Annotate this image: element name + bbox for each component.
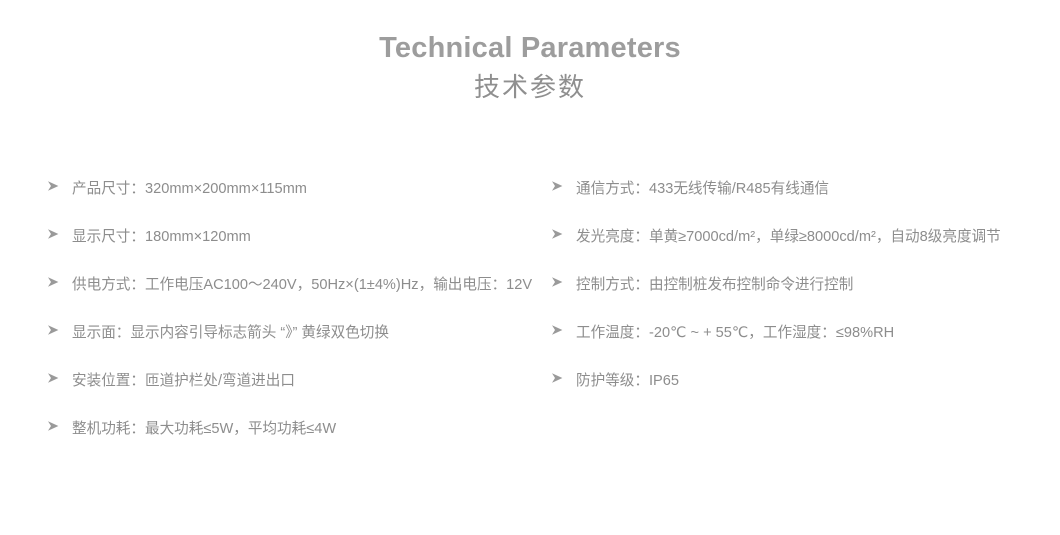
spec-columns: 产品尺寸：320mm×200mm×115mm 显示尺寸：180mm×120mm … [0,178,1060,466]
arrowhead-bullet-icon [46,178,72,193]
spec-item-control-mode: 控制方式：由控制桩发布控制命令进行控制 [550,274,1050,297]
technical-parameters-page: Technical Parameters 技术参数 产品尺寸：320mm×200… [0,0,1060,535]
spec-item-install-position: 安装位置：匝道护栏处/弯道进出口 [46,370,537,393]
spec-item-communication: 通信方式：433无线传输/R485有线通信 [550,178,1050,201]
spec-column-right: 通信方式：433无线传输/R485有线通信 发光亮度：单黄≥7000cd/m²，… [545,178,1060,466]
spec-item-power-consumption: 整机功耗：最大功耗≤5W，平均功耗≤4W [46,418,537,441]
arrowhead-bullet-icon [46,418,72,433]
spec-text: 整机功耗：最大功耗≤5W，平均功耗≤4W [72,418,537,441]
page-heading: Technical Parameters 技术参数 [0,0,1060,106]
spec-item-display-size: 显示尺寸：180mm×120mm [46,226,537,249]
arrowhead-bullet-icon [46,370,72,385]
spec-text: 工作温度：-20℃ ~ + 55℃，工作湿度：≤98%RH [576,322,1050,345]
page-title-chinese: 技术参数 [0,68,1060,106]
spec-text: 通信方式：433无线传输/R485有线通信 [576,178,1050,201]
spec-item-protection-rating: 防护等级：IP65 [550,370,1050,393]
arrowhead-bullet-icon [550,274,576,289]
arrowhead-bullet-icon [550,370,576,385]
arrowhead-bullet-icon [46,274,72,289]
spec-item-luminance: 发光亮度：单黄≥7000cd/m²，单绿≥8000cd/m²，自动8级亮度调节 [550,226,1050,249]
spec-text: 控制方式：由控制桩发布控制命令进行控制 [576,274,1050,297]
arrowhead-bullet-icon [46,226,72,241]
arrowhead-bullet-icon [550,226,576,241]
arrowhead-bullet-icon [46,322,72,337]
page-title-english: Technical Parameters [0,30,1060,66]
spec-item-power-supply: 供电方式：工作电压AC100～240V，50Hz×(1±4%)Hz，输出电压：1… [46,274,537,297]
spec-item-product-size: 产品尺寸：320mm×200mm×115mm [46,178,537,201]
spec-text: 防护等级：IP65 [576,370,1050,393]
spec-item-display-surface: 显示面：显示内容引导标志箭头 “》” 黄绿双色切换 [46,322,537,345]
arrowhead-bullet-icon [550,322,576,337]
spec-text: 安装位置：匝道护栏处/弯道进出口 [72,370,537,393]
spec-text: 发光亮度：单黄≥7000cd/m²，单绿≥8000cd/m²，自动8级亮度调节 [576,226,1050,249]
spec-item-operating-temperature: 工作温度：-20℃ ~ + 55℃，工作湿度：≤98%RH [550,322,1050,345]
spec-text: 显示面：显示内容引导标志箭头 “》” 黄绿双色切换 [72,322,537,345]
spec-text: 显示尺寸：180mm×120mm [72,226,537,249]
spec-text: 产品尺寸：320mm×200mm×115mm [72,178,537,201]
spec-column-left: 产品尺寸：320mm×200mm×115mm 显示尺寸：180mm×120mm … [0,178,545,466]
arrowhead-bullet-icon [550,178,576,193]
spec-text: 供电方式：工作电压AC100～240V，50Hz×(1±4%)Hz，输出电压：1… [72,274,537,297]
